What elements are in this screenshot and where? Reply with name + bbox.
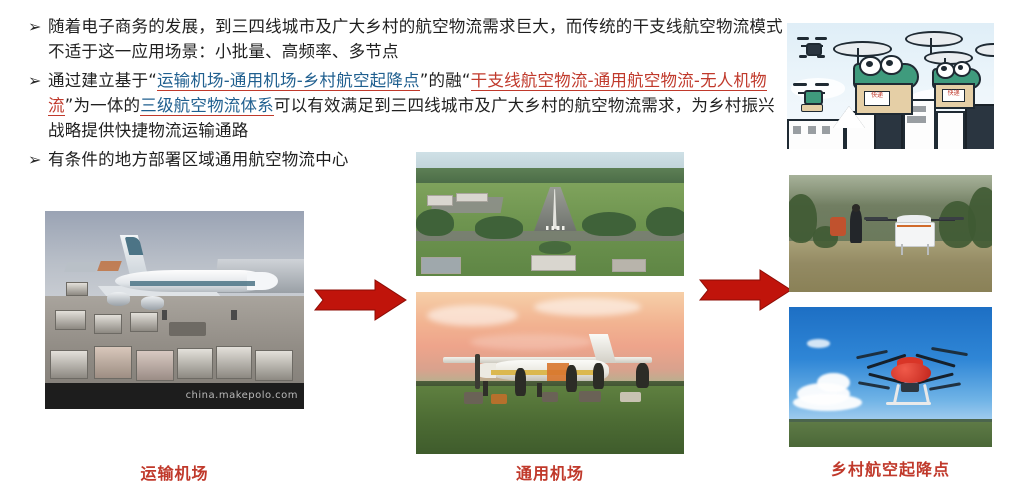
text-run: ”为一体的 — [65, 96, 141, 115]
text-run: ”的融“ — [420, 71, 471, 90]
propeller — [815, 83, 829, 86]
cargo-item — [579, 391, 600, 402]
caption-rural-airfield: 乡村航空起降点 — [789, 460, 992, 480]
bullet-arrow-icon: ➢ — [28, 14, 48, 39]
text-run: 随着电子商务的发展，到三四线城市及广大乡村的航空物流需求巨大，而传统的干支线航空… — [48, 17, 783, 61]
airport-building — [612, 259, 646, 272]
propeller — [864, 217, 888, 220]
bullet-item-2: ➢ 通过建立基于“运输机场-通用机场-乡村航空起降点”的融“干支线航空物流-通用… — [28, 68, 788, 143]
airport-building — [531, 255, 576, 271]
drone-landing-leg — [927, 244, 929, 255]
operator-person — [850, 208, 862, 243]
drone-landing-skid — [886, 402, 931, 405]
photo-frame — [789, 307, 992, 447]
background-aircraft-tail — [98, 261, 122, 271]
cargo-item — [491, 394, 507, 404]
cargo-crate — [94, 314, 122, 334]
propeller — [939, 217, 963, 220]
cargo-crate — [94, 346, 132, 380]
window — [822, 126, 830, 134]
text-run: 通过建立基于“ — [48, 71, 157, 90]
cargo-crate — [216, 346, 252, 380]
ground-crew-person — [515, 368, 526, 396]
ground-crew-person — [566, 365, 577, 393]
cargo-airport-photo: china.makepolo.com — [45, 211, 304, 409]
small-quadcopter — [793, 83, 831, 111]
bullet-text-2: 通过建立基于“运输机场-通用机场-乡村航空起降点”的融“干支线航空物流-通用航空… — [48, 68, 788, 143]
background-aircraft-tail — [64, 262, 99, 272]
text-run-highlight-blue: 运输机场-通用机场-乡村航空起降点 — [157, 71, 420, 91]
drone-core — [806, 43, 822, 56]
bullet-text-1: 随着电子商务的发展，到三四线城市及广大乡村的航空物流需求巨大，而传统的干支线航空… — [48, 14, 788, 64]
field-layer — [789, 422, 992, 447]
photo-watermark: china.makepolo.com — [45, 383, 304, 409]
cargo-crate — [136, 350, 174, 382]
airport-building — [456, 193, 487, 202]
aircraft-engine — [107, 292, 130, 306]
aircraft-landing-gear — [483, 381, 488, 396]
aircraft-propeller — [475, 354, 480, 390]
window — [793, 126, 801, 134]
rotor-disc — [833, 41, 893, 57]
photo-frame — [416, 152, 684, 276]
propeller — [793, 83, 807, 86]
cloud — [793, 394, 862, 411]
photo-frame — [416, 292, 684, 454]
text-run: 有条件的地方部署区域通用航空物流中心 — [48, 150, 349, 169]
drone-body — [891, 363, 932, 383]
airport-building — [427, 195, 453, 206]
access-road — [416, 231, 684, 241]
rotor-disc — [905, 31, 963, 47]
carried-equipment — [830, 217, 846, 236]
bullet-item-1: ➢ 随着电子商务的发展，到三四线城市及广大乡村的航空物流需求巨大，而传统的干支线… — [28, 14, 788, 64]
small-quadcopter — [797, 37, 827, 59]
hillside-drone-photo — [789, 175, 992, 292]
drone-core — [804, 90, 823, 105]
cargo-crate — [255, 350, 293, 382]
photo-frame — [789, 175, 992, 292]
airport-building — [421, 257, 461, 274]
runway-threshold-markings — [546, 226, 565, 230]
drone-pupil — [941, 66, 946, 71]
tree-cluster — [475, 216, 523, 238]
drone-landing-leg — [901, 244, 903, 255]
red-drone-sky-photo — [789, 307, 992, 447]
landing-skid — [799, 55, 807, 58]
propeller — [797, 37, 809, 40]
caption-general-airport: 通用机场 — [416, 464, 684, 484]
bullet-arrow-icon: ➢ — [28, 147, 48, 172]
tree-cluster — [582, 212, 636, 237]
drone-payload-pod — [901, 383, 919, 393]
right-arrow-icon — [698, 268, 793, 312]
tree-cluster — [416, 209, 454, 236]
photo-frame: china.makepolo.com — [45, 211, 304, 409]
parcel-box — [801, 104, 823, 112]
cloud — [427, 305, 518, 326]
drone-pupil — [958, 65, 963, 70]
arrow-transport-to-general — [313, 278, 408, 322]
ground-crew-person — [593, 363, 604, 389]
drone-cartoon-photo: 快递 快递 — [787, 23, 994, 149]
aircraft-landing-gear — [162, 310, 167, 320]
caption-transport-airport: 运输机场 — [45, 464, 304, 484]
right-arrow-icon — [313, 278, 408, 322]
ground-crew-person — [636, 363, 649, 387]
cargo-item — [464, 392, 483, 403]
cloud — [817, 373, 849, 393]
cargo-crate — [66, 282, 89, 296]
photo-frame: 快递 快递 — [787, 23, 994, 149]
window — [808, 126, 816, 134]
bush — [968, 187, 992, 248]
cloud — [807, 339, 829, 347]
parcel-label: 快递 — [942, 89, 965, 102]
arrow-general-to-rural — [698, 268, 793, 312]
bullet-arrow-icon: ➢ — [28, 68, 48, 93]
building — [965, 104, 994, 149]
cargo-crate — [177, 348, 213, 380]
foreground-grass-layer — [789, 241, 992, 292]
cargo-item — [620, 392, 641, 402]
slide-canvas: ➢ 随着电子商务的发展，到三四线城市及广大乡村的航空物流需求巨大，而传统的干支线… — [0, 0, 1024, 498]
ga-airport-aerial-photo — [416, 152, 684, 276]
building — [936, 111, 965, 149]
parcel-label: 快递 — [864, 91, 891, 106]
cargo-item — [542, 392, 558, 402]
tree-cluster — [646, 207, 684, 237]
propeller — [815, 37, 827, 40]
tree-cluster — [539, 241, 571, 253]
aircraft-livery-stripe — [491, 370, 598, 375]
caravan-loading-photo — [416, 292, 684, 454]
cargo-crate — [50, 350, 88, 380]
drone-pupil — [866, 61, 873, 67]
ground-vehicle — [169, 322, 205, 336]
drone-accent-stripe — [897, 225, 932, 227]
cargo-crate — [55, 310, 85, 330]
aircraft-engine — [141, 296, 164, 310]
aircraft-landing-gear — [231, 310, 236, 320]
aircraft-livery-stripe — [130, 281, 254, 286]
landing-skid — [817, 55, 825, 58]
window — [907, 116, 926, 122]
text-run-highlight-blue: 三级航空物流体系 — [140, 96, 274, 116]
cargo-crate — [130, 312, 158, 332]
